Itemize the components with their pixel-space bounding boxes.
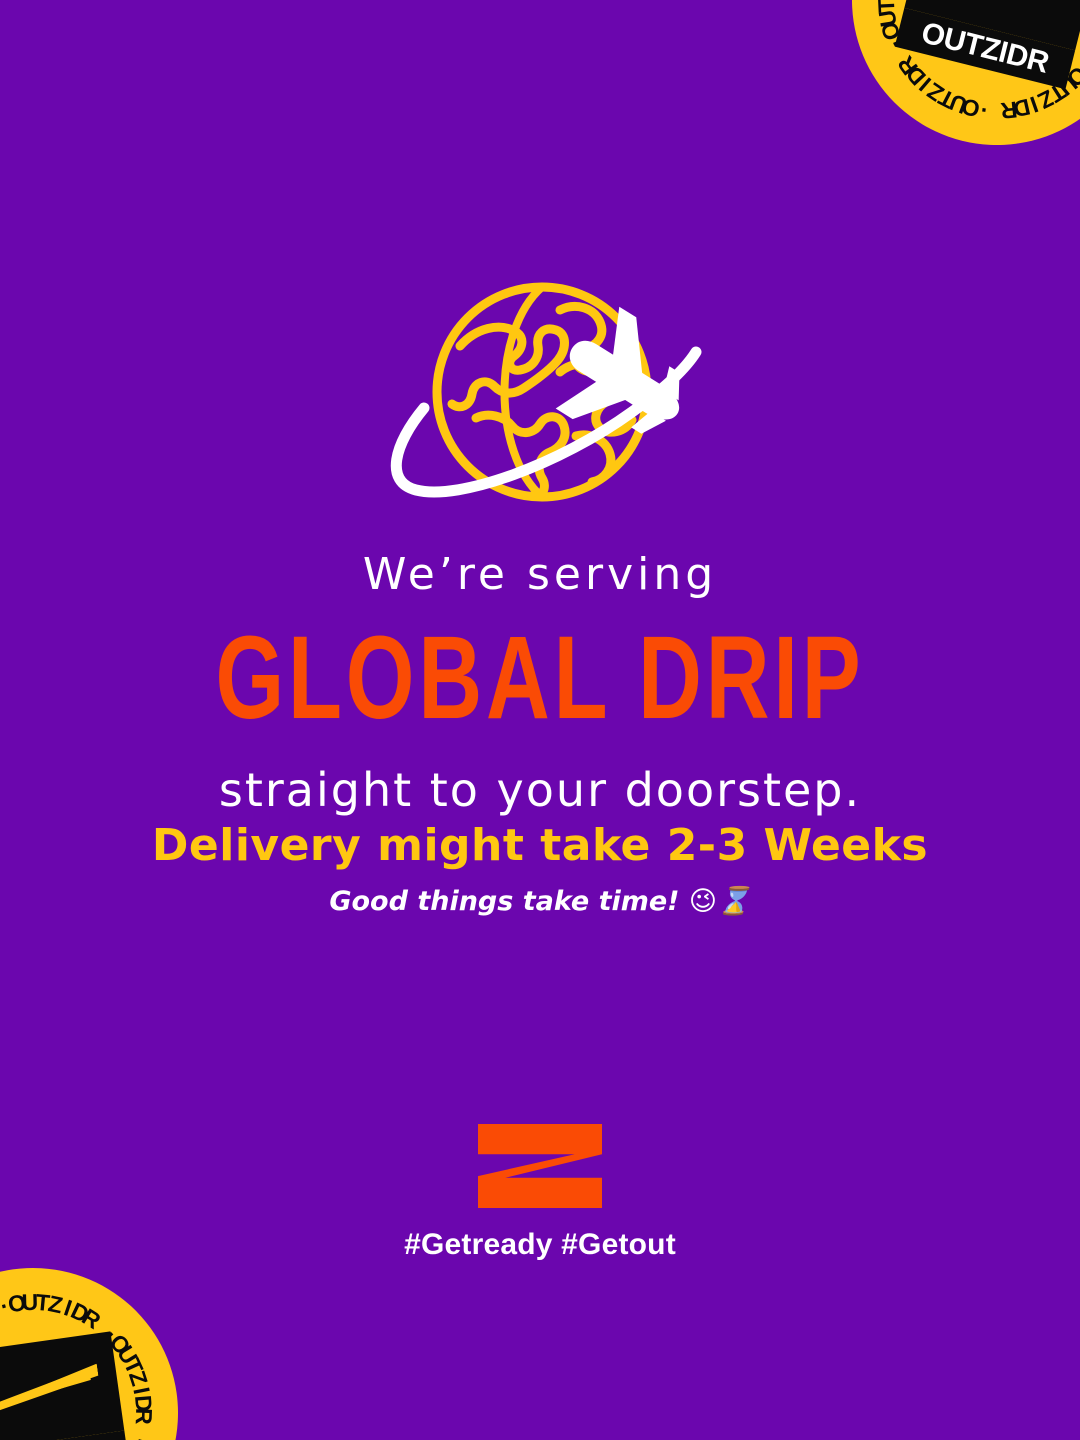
footer-block: #Getready #Getout <box>0 1124 1080 1262</box>
badge-z-mark-icon <box>0 1331 124 1440</box>
brand-badge-bottom-left: OUTZIDR ·OUTZIDR ·OUTZIDR ·OUTZIDR ·OUTZ… <box>0 1249 197 1440</box>
brand-badge-top-right: OUTZIDR ·OUTZIDR ·OUTZIDR ·OUTZIDR ·OUTZ… <box>821 0 1080 176</box>
outzidr-z-logo-icon <box>478 1124 602 1208</box>
delivery-notice-block: Delivery might take 2-3 Weeks Good thing… <box>0 820 1080 917</box>
promo-poster: OUTZIDR ·OUTZIDR ·OUTZIDR ·OUTZIDR ·OUTZ… <box>0 0 1080 1440</box>
subline-text: straight to your doorstep. <box>0 766 1080 814</box>
hashtags-text: #Getready #Getout <box>0 1228 1080 1262</box>
globe-airplane-icon <box>364 276 716 516</box>
main-copy-block: We’re serving GLOBAL DRIP straight to yo… <box>0 552 1080 814</box>
badge-core-bottom-left: OUTZIDR <box>0 1331 130 1440</box>
delivery-reassurance-text: Good things take time! 😉⌛ <box>0 885 1080 917</box>
eyebrow-text: We’re serving <box>0 552 1080 598</box>
delivery-timeframe-text: Delivery might take 2-3 Weeks <box>0 820 1080 871</box>
page-title: GLOBAL DRIP <box>22 612 1059 747</box>
